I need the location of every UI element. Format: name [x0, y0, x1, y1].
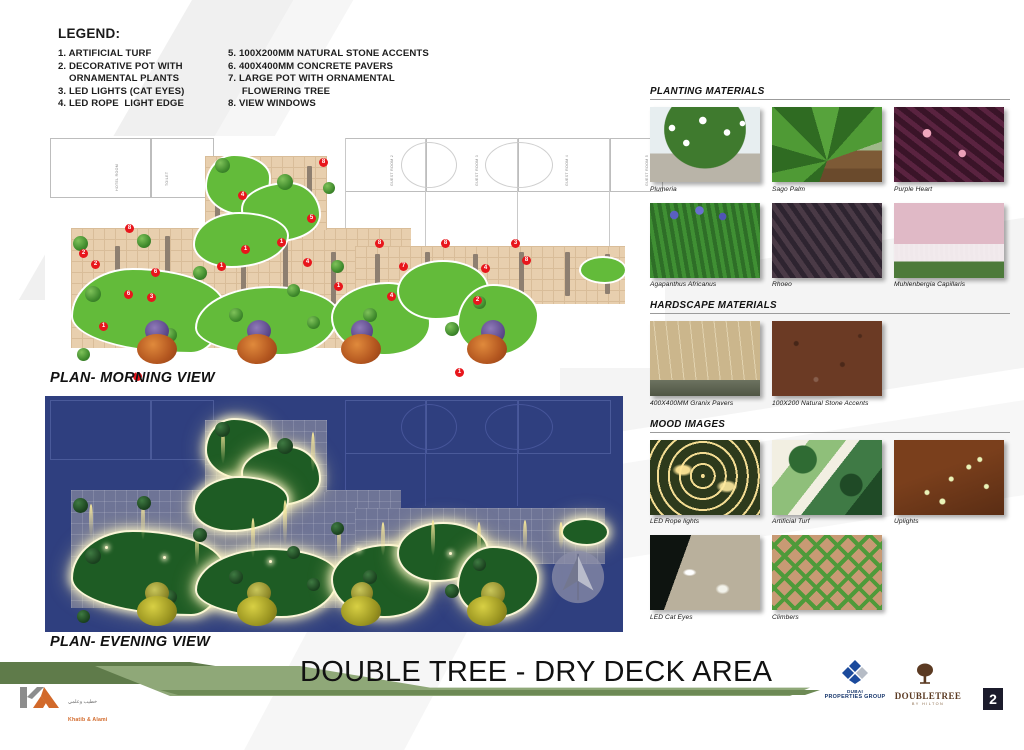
materials-panel: PLANTING MATERIALS Plumeria Sago Palm Pu…: [650, 86, 1010, 633]
section-title: MOOD IMAGES: [650, 419, 1010, 433]
material-thumbnail[interactable]: [650, 321, 760, 396]
legend-item: 3. LED LIGHTS (CAT EYES): [58, 86, 228, 99]
khatib-alami-logo: خطيب وعلمي Khatib & Alami: [18, 683, 138, 713]
legend-item: 4. LED ROPE LIGHT EDGE: [58, 98, 228, 111]
plan-marker[interactable]: 8: [319, 158, 328, 167]
plan-marker[interactable]: 3: [147, 293, 156, 302]
material-caption: Plumeria: [650, 186, 760, 193]
doubletree-logo: DOUBLETREE BY HILTON: [890, 660, 966, 706]
material-thumbnail[interactable]: [650, 535, 760, 610]
material-caption: Agapanthus Africanus: [650, 281, 760, 288]
material-thumbnail[interactable]: [650, 107, 760, 182]
legend-block: LEGEND: 1. ARTIFICIAL TURF 2. DECORATIVE…: [58, 26, 478, 111]
plan-marker[interactable]: 1: [334, 282, 343, 291]
material-card[interactable]: LED Cat Eyes: [650, 535, 760, 621]
legend-item: 6. 400X400MM CONCRETE PAVERS: [228, 61, 429, 74]
khatib-english-text: Khatib & Alami: [68, 717, 108, 723]
section-mood-images: MOOD IMAGES LED Rope lights Artificial T…: [650, 419, 1010, 621]
plan-marker[interactable]: 1: [455, 368, 464, 377]
plan-marker[interactable]: 8: [125, 224, 134, 233]
material-caption: Artificial Turf: [772, 518, 882, 525]
material-caption: LED Rope lights: [650, 518, 760, 525]
plan-marker[interactable]: 4: [481, 264, 490, 273]
legend-item: 8. VIEW WINDOWS: [228, 98, 429, 111]
plan-morning-view[interactable]: HOTEL ROOM TOILET GUEST ROOM 2 GUEST ROO…: [45, 136, 665, 368]
banner-shape-edge: [160, 690, 820, 695]
plan-evening-caption: PLAN- EVENING VIEW: [50, 634, 210, 650]
material-caption: 400X400MM Granix Pavers: [650, 400, 760, 407]
material-caption: Rhoeo: [772, 281, 882, 288]
north-arrow-icon: [549, 548, 607, 606]
material-thumbnail[interactable]: [772, 203, 882, 278]
legend-item: 2. DECORATIVE POT WITH: [58, 61, 228, 74]
plan-marker[interactable]: 1: [99, 322, 108, 331]
plan-marker[interactable]: 8: [522, 256, 531, 265]
plan-marker[interactable]: 6: [151, 268, 160, 277]
doubletree-line2: BY HILTON: [890, 702, 966, 706]
material-card[interactable]: Artificial Turf: [772, 440, 882, 526]
section-title: HARDSCAPE MATERIALS: [650, 300, 1010, 314]
legend-item: 1. ARTIFICIAL TURF: [58, 48, 228, 61]
plan-marker[interactable]: 2: [91, 260, 100, 269]
material-thumbnail[interactable]: [650, 203, 760, 278]
material-card[interactable]: Rhoeo: [772, 203, 882, 289]
material-thumbnail[interactable]: [772, 535, 882, 610]
plan-marker[interactable]: 5: [307, 214, 316, 223]
material-card[interactable]: Plumeria: [650, 107, 760, 193]
plan-marker[interactable]: 1: [241, 245, 250, 254]
material-card[interactable]: Purple Heart: [894, 107, 1004, 193]
material-card[interactable]: Agapanthus Africanus: [650, 203, 760, 289]
material-thumbnail[interactable]: [894, 440, 1004, 515]
material-thumbnail[interactable]: [772, 440, 882, 515]
material-card[interactable]: Muhlenbergia Capillaris: [894, 203, 1004, 289]
section-hardscape-materials: HARDSCAPE MATERIALS 400X400MM Granix Pav…: [650, 300, 1010, 407]
ka-monogram-icon: [18, 683, 64, 711]
material-thumbnail[interactable]: [650, 440, 760, 515]
plan-marker[interactable]: 1: [217, 262, 226, 271]
material-caption: Climbers: [772, 614, 882, 621]
doubletree-line1: DOUBLETREE: [890, 691, 966, 701]
legend-column-left: 1. ARTIFICIAL TURF 2. DECORATIVE POT WIT…: [58, 48, 228, 111]
section-title: PLANTING MATERIALS: [650, 86, 1010, 100]
legend-item: ORNAMENTAL PLANTS: [58, 73, 228, 86]
dubai-properties-logo: DUBAI PROPERTIES GROUP: [824, 660, 886, 700]
plan-marker[interactable]: 4: [303, 258, 312, 267]
material-caption: Sago Palm: [772, 186, 882, 193]
plan-morning-caption: PLAN- MORNING VIEW: [50, 370, 215, 386]
material-thumbnail[interactable]: [894, 107, 1004, 182]
legend-title: LEGEND:: [58, 26, 478, 41]
plan-marker[interactable]: 1: [277, 238, 286, 247]
plan-evening-view[interactable]: [45, 396, 623, 632]
legend-item: 7. LARGE POT WITH ORNAMENTAL: [228, 73, 429, 86]
material-thumbnail[interactable]: [894, 203, 1004, 278]
section-planting-materials: PLANTING MATERIALS Plumeria Sago Palm Pu…: [650, 86, 1010, 288]
material-card[interactable]: 400X400MM Granix Pavers: [650, 321, 760, 407]
plan-marker[interactable]: 4: [238, 191, 247, 200]
plan-marker[interactable]: 3: [511, 239, 520, 248]
plan-marker[interactable]: 8: [441, 239, 450, 248]
material-card[interactable]: 100X200 Natural Stone Accents: [772, 321, 882, 407]
plan-marker[interactable]: 7: [399, 262, 408, 271]
material-card[interactable]: Sago Palm: [772, 107, 882, 193]
material-thumbnail[interactable]: [772, 107, 882, 182]
material-caption: Purple Heart: [894, 186, 1004, 193]
material-card[interactable]: Uplights: [894, 440, 1004, 526]
plan-marker[interactable]: 2: [79, 249, 88, 258]
khatib-arabic-text: خطيب وعلمي: [68, 699, 97, 705]
material-card[interactable]: LED Rope lights: [650, 440, 760, 526]
material-caption: Uplights: [894, 518, 1004, 525]
dpg-line2: PROPERTIES GROUP: [824, 694, 886, 700]
material-caption: LED Cat Eyes: [650, 614, 760, 621]
board-title: DOUBLE TREE - DRY DECK AREA: [300, 656, 770, 689]
plan-marker[interactable]: 2: [473, 296, 482, 305]
legend-item: FLOWERING TREE: [228, 86, 429, 99]
material-card[interactable]: Climbers: [772, 535, 882, 621]
material-caption: 100X200 Natural Stone Accents: [772, 400, 882, 407]
plan-marker[interactable]: 4: [387, 292, 396, 301]
material-thumbnail[interactable]: [772, 321, 882, 396]
plan-marker[interactable]: 6: [124, 290, 133, 299]
material-caption: Muhlenbergia Capillaris: [894, 281, 1004, 288]
legend-column-right: 5. 100X200MM NATURAL STONE ACCENTS 6. 40…: [228, 48, 429, 111]
plan-marker[interactable]: 8: [375, 239, 384, 248]
doubletree-tree-icon: [913, 660, 943, 686]
legend-item: 5. 100X200MM NATURAL STONE ACCENTS: [228, 48, 429, 61]
page-number-badge: 2: [983, 688, 1003, 710]
dpg-diamond-icon: [842, 660, 868, 684]
